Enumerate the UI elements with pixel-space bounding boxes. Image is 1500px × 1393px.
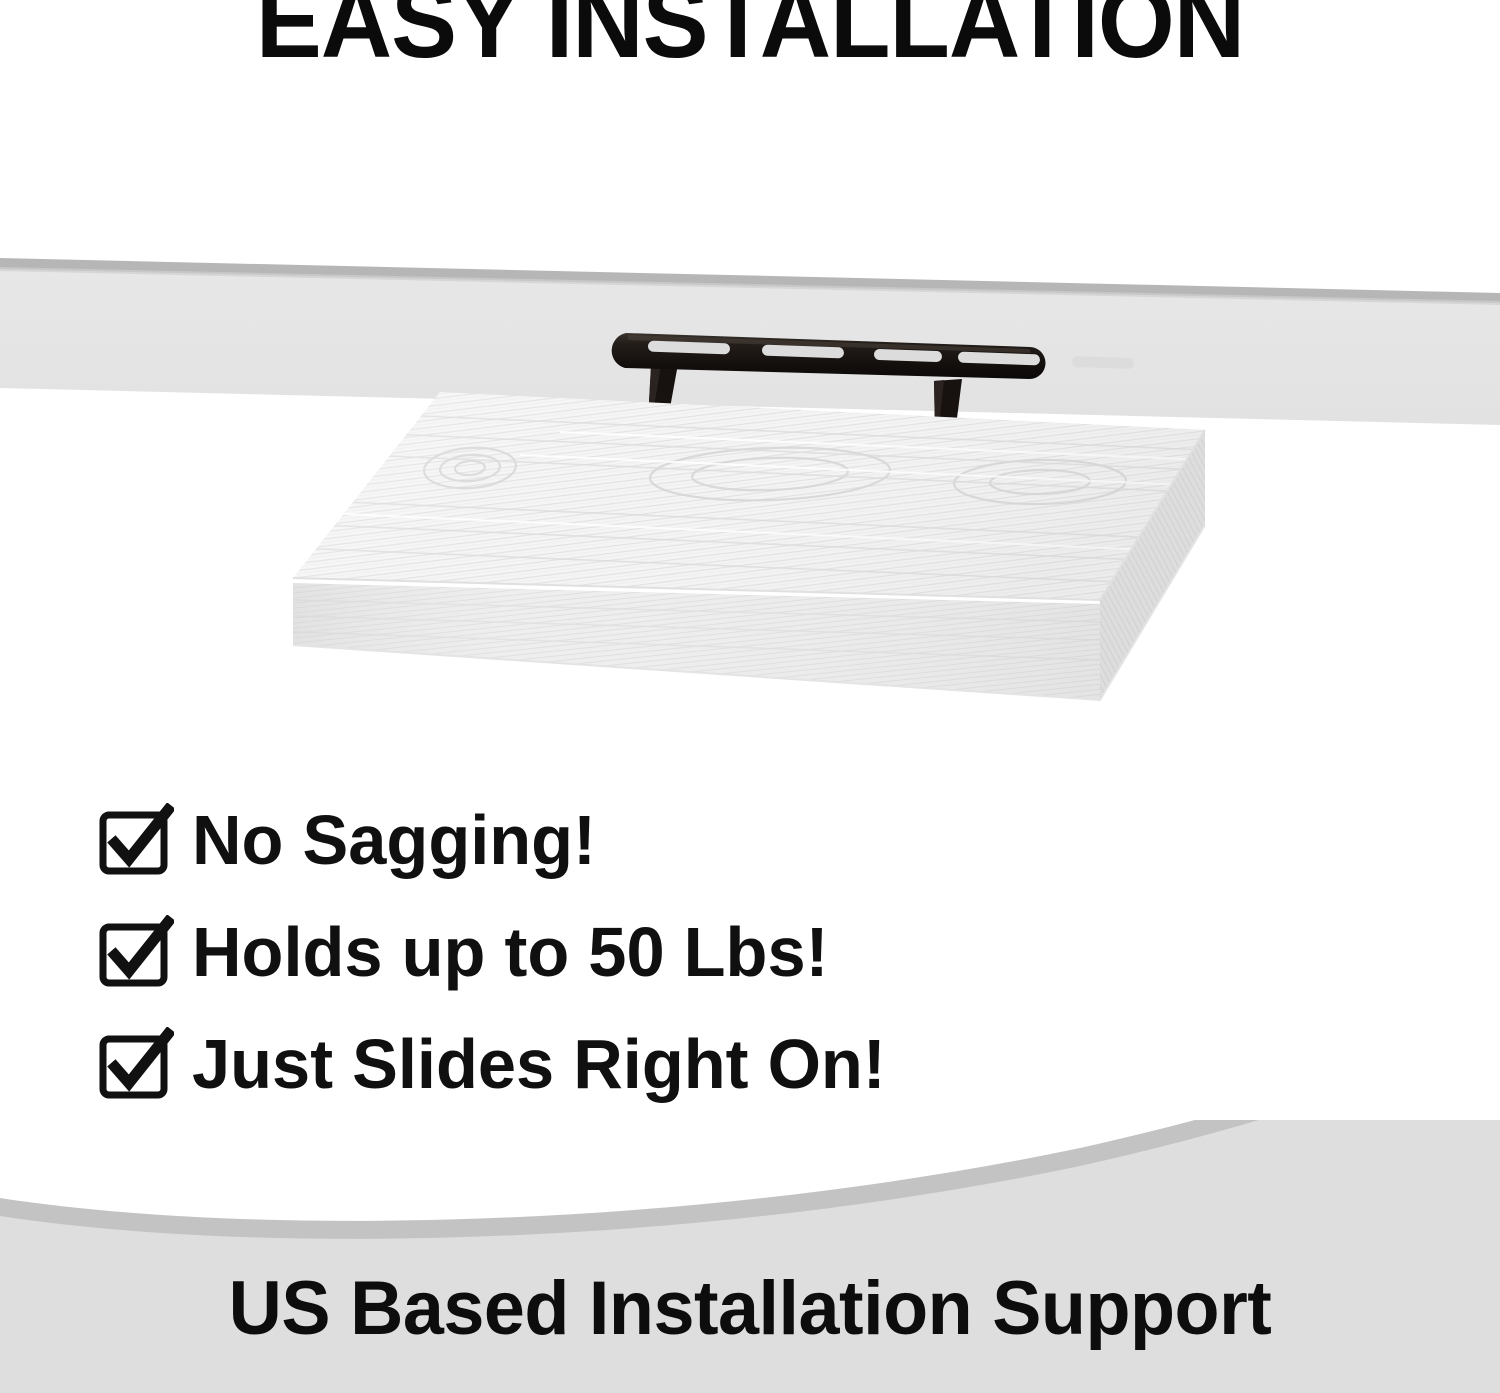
footer-band — [0, 1120, 1500, 1393]
list-item: Holds up to 50 Lbs! — [96, 898, 1076, 1006]
checkbox-checked-icon — [96, 915, 174, 993]
list-item-label: Just Slides Right On! — [192, 1029, 886, 1099]
checkbox-checked-icon — [96, 803, 174, 881]
checkbox-checked-icon — [96, 1027, 174, 1105]
feature-list: No Sagging! Holds up to 50 Lbs! Just Sli… — [96, 786, 1076, 1118]
footer-support-text: US Based Installation Support — [23, 1271, 1478, 1347]
list-item: Just Slides Right On! — [96, 1010, 1076, 1118]
product-illustration — [0, 0, 1500, 780]
infographic-canvas: EASY INSTALLATION — [0, 0, 1500, 1393]
footer-band-fill — [0, 1120, 1500, 1393]
floating-shelf-board — [293, 392, 1205, 700]
list-item-label: Holds up to 50 Lbs! — [192, 917, 828, 987]
list-item-label: No Sagging! — [192, 805, 596, 875]
list-item: No Sagging! — [96, 786, 1076, 894]
